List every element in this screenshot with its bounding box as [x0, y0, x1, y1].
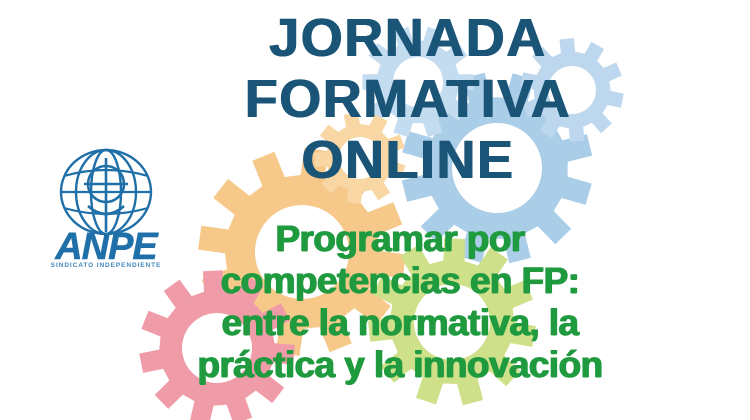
poster-canvas: ANPE SINDICATO INDEPENDIENTE JORNADA FOR… — [0, 0, 750, 420]
subtitle-line-2: competencias en FP: — [150, 260, 650, 302]
headline-line-3: ONLINE — [188, 130, 628, 191]
headline-line-1: JORNADA — [188, 8, 628, 69]
subtitle-line-1: Programar por — [150, 218, 650, 260]
globe-icon — [58, 148, 154, 236]
page-title: JORNADA FORMATIVA ONLINE — [188, 8, 628, 191]
subtitle-line-4: práctica y la innovación — [150, 344, 650, 386]
headline-line-2: FORMATIVA — [188, 69, 628, 130]
subtitle-line-3: entre la normativa, la — [150, 302, 650, 344]
page-subtitle: Programar por competencias en FP: entre … — [150, 218, 650, 386]
